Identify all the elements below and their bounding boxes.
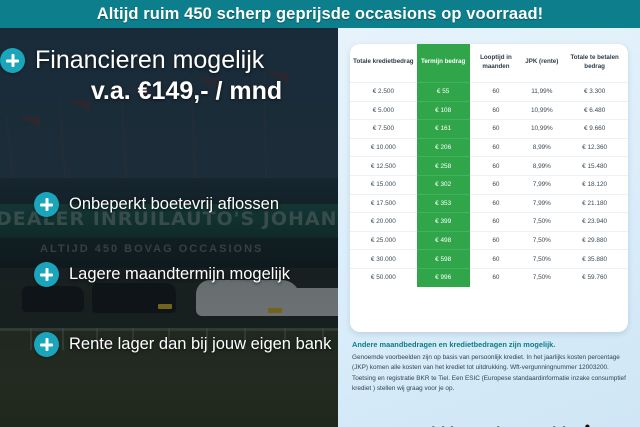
cell-total-credit: € 5.000 xyxy=(350,101,417,120)
cell-duration: 60 xyxy=(470,268,523,286)
cell-duration: 60 xyxy=(470,175,523,194)
cell-total-credit: € 20.000 xyxy=(350,213,417,232)
benefit-item-3: Rente lager dan bij jouw eigen bank xyxy=(34,332,331,357)
cell-monthly-amount: € 353 xyxy=(417,194,470,213)
plus-icon xyxy=(34,332,59,357)
cell-total-payable: € 15.480 xyxy=(561,157,628,176)
cell-apr: 10,99% xyxy=(522,101,561,120)
cell-total-payable: € 59.760 xyxy=(561,268,628,286)
table-row: € 7.500€ 1616010,99%€ 9.660 xyxy=(350,120,628,139)
cell-total-payable: € 6.480 xyxy=(561,101,628,120)
cell-duration: 60 xyxy=(470,120,523,139)
finance-panel: Totale kredietbedrag Termijn bedrag Loop… xyxy=(338,28,640,427)
cell-monthly-amount: € 598 xyxy=(417,250,470,269)
cell-apr: 7,50% xyxy=(522,213,561,232)
rates-table-body: € 2.500€ 556011,99%€ 3.300€ 5.000€ 10860… xyxy=(350,82,628,286)
benefit-item-1: Onbeperkt boetevrij aflossen xyxy=(34,192,279,217)
cell-apr: 10,99% xyxy=(522,120,561,139)
cell-monthly-amount: € 498 xyxy=(417,231,470,250)
cell-duration: 60 xyxy=(470,194,523,213)
table-row: € 10.000€ 206608,99%€ 12.360 xyxy=(350,138,628,157)
column-header-total-credit: Totale kredietbedrag xyxy=(350,44,417,82)
headline-text: Financieren mogelijk xyxy=(35,46,264,75)
cell-monthly-amount: € 399 xyxy=(417,213,470,232)
cell-total-credit: € 50.000 xyxy=(350,268,417,286)
cell-total-credit: € 10.000 xyxy=(350,138,417,157)
cell-monthly-amount: € 996 xyxy=(417,268,470,286)
table-row: € 15.000€ 302607,99%€ 18.120 xyxy=(350,175,628,194)
column-header-monthly-amount: Termijn bedrag xyxy=(417,44,470,82)
cell-total-credit: € 12.500 xyxy=(350,157,417,176)
cell-duration: 60 xyxy=(470,250,523,269)
top-banner: Altijd ruim 450 scherp geprijsde occasio… xyxy=(0,0,640,28)
note-title: Andere maandbedragen en kredietbedragen … xyxy=(352,340,624,350)
cell-apr: 11,99% xyxy=(522,82,561,101)
left-content: Financieren mogelijk v.a. €149,- / mnd O… xyxy=(0,28,345,427)
benefit-label: Onbeperkt boetevrij aflossen xyxy=(69,195,279,214)
cell-total-payable: € 12.360 xyxy=(561,138,628,157)
promo-banner: DEALER INRUILAUTO'S JOHAN MEURE ALTIJD 4… xyxy=(0,0,640,427)
cell-monthly-amount: € 302 xyxy=(417,175,470,194)
table-header-row: Totale kredietbedrag Termijn bedrag Loop… xyxy=(350,44,628,82)
cell-monthly-amount: € 161 xyxy=(417,120,470,139)
cell-apr: 7,50% xyxy=(522,268,561,286)
headline-block: Financieren mogelijk v.a. €149,- / mnd xyxy=(0,46,345,106)
cell-duration: 60 xyxy=(470,82,523,101)
cell-total-credit: € 2.500 xyxy=(350,82,417,101)
cell-duration: 60 xyxy=(470,213,523,232)
benefit-label: Lagere maandtermijn mogelijk xyxy=(69,265,290,284)
rates-card: Totale kredietbedrag Termijn bedrag Loop… xyxy=(350,44,628,332)
table-row: € 5.000€ 1086010,99%€ 6.480 xyxy=(350,101,628,120)
table-row: € 17.500€ 353607,99%€ 21.180 xyxy=(350,194,628,213)
column-header-apr: JPK (rente) xyxy=(522,44,561,82)
cell-total-payable: € 9.660 xyxy=(561,120,628,139)
cell-apr: 7,99% xyxy=(522,194,561,213)
cell-apr: 7,50% xyxy=(522,250,561,269)
column-header-total-payable: Totale te betalen bedrag xyxy=(561,44,628,82)
column-header-duration: Looptijd in maanden xyxy=(470,44,523,82)
cell-monthly-amount: € 206 xyxy=(417,138,470,157)
cell-total-credit: € 7.500 xyxy=(350,120,417,139)
top-banner-text: Altijd ruim 450 scherp geprijsde occasio… xyxy=(97,5,544,24)
cell-total-payable: € 35.880 xyxy=(561,250,628,269)
cell-total-credit: € 17.500 xyxy=(350,194,417,213)
plus-icon xyxy=(34,192,59,217)
cell-duration: 60 xyxy=(470,101,523,120)
table-row: € 50.000€ 996607,50%€ 59.760 xyxy=(350,268,628,286)
cell-apr: 8,99% xyxy=(522,138,561,157)
cell-apr: 7,99% xyxy=(522,175,561,194)
cell-monthly-amount: € 55 xyxy=(417,82,470,101)
headline-row: Financieren mogelijk xyxy=(0,46,345,75)
benefit-label: Rente lager dan bij jouw eigen bank xyxy=(69,335,331,354)
table-row: € 25.000€ 498607,50%€ 29.880 xyxy=(350,231,628,250)
table-row: € 12.500€ 258608,99%€ 15.480 xyxy=(350,157,628,176)
cell-total-credit: € 15.000 xyxy=(350,175,417,194)
cell-monthly-amount: € 108 xyxy=(417,101,470,120)
cell-total-payable: € 21.180 xyxy=(561,194,628,213)
rates-table-head: Totale kredietbedrag Termijn bedrag Loop… xyxy=(350,44,628,82)
cell-total-payable: € 18.120 xyxy=(561,175,628,194)
plus-icon xyxy=(34,262,59,287)
note-body: Genoemde voorbeelden zijn op basis van p… xyxy=(352,353,626,395)
cell-total-payable: € 3.300 xyxy=(561,82,628,101)
subheadline-text: v.a. €149,- / mnd xyxy=(34,77,339,106)
cell-apr: 8,99% xyxy=(522,157,561,176)
cell-total-payable: € 29.880 xyxy=(561,231,628,250)
cell-duration: 60 xyxy=(470,157,523,176)
table-row: € 20.000€ 399607,50%€ 23.940 xyxy=(350,213,628,232)
cell-apr: 7,50% xyxy=(522,231,561,250)
cell-monthly-amount: € 258 xyxy=(417,157,470,176)
benefit-item-2: Lagere maandtermijn mogelijk xyxy=(34,262,290,287)
cell-duration: 60 xyxy=(470,138,523,157)
cell-duration: 60 xyxy=(470,231,523,250)
table-row: € 30.000€ 598607,50%€ 35.880 xyxy=(350,250,628,269)
plus-icon xyxy=(0,48,25,73)
table-row: € 2.500€ 556011,99%€ 3.300 xyxy=(350,82,628,101)
cell-total-payable: € 23.940 xyxy=(561,213,628,232)
cell-total-credit: € 25.000 xyxy=(350,231,417,250)
cell-total-credit: € 30.000 xyxy=(350,250,417,269)
rates-table: Totale kredietbedrag Termijn bedrag Loop… xyxy=(350,44,628,287)
